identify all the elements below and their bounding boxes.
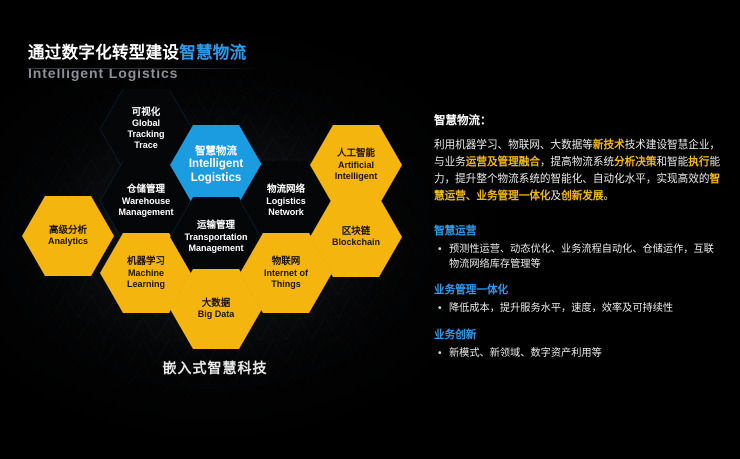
description-panel: 智慧物流： 利用机器学习、物联网、大数据等新技术技术建设智慧企业，与业务运营及管… (434, 112, 724, 371)
hex-label-cn: 仓储管理 (127, 184, 165, 196)
hex-label-en: Tracking (127, 129, 164, 140)
hex-node-analytics[interactable]: 高级分析Analytics (22, 196, 114, 276)
hex-label-en: Analytics (48, 236, 88, 247)
hex-label-en: Warehouse (122, 196, 170, 207)
hex-label-en: Intelligent (335, 171, 378, 182)
section-list: 降低成本，提升服务水平，速度，效率及可持续性 (434, 301, 724, 316)
hex-label-cn: 区块链 (342, 226, 371, 238)
paragraph-highlight: 新技术 (593, 139, 625, 151)
hex-label-en: Network (268, 207, 304, 218)
paragraph-text: 和智能 (656, 156, 688, 168)
section-list: 预测性运营、动态优化、业务流程自动化、仓储运作，互联物流网络库存管理等 (434, 242, 724, 273)
slide-canvas: 通过数字化转型建设智慧物流 Intelligent Logistics 高级分析… (0, 0, 740, 459)
hex-label-cn: 可视化 (132, 107, 161, 119)
paragraph-text: 。 (604, 190, 615, 202)
panel-heading: 智慧物流： (434, 112, 724, 128)
hex-node-body: 高级分析Analytics (22, 196, 114, 276)
hex-label-en: Big Data (198, 309, 235, 320)
hex-label-cn: 物流网络 (267, 184, 305, 196)
hex-label-en: Learning (127, 279, 165, 290)
section-list: 新模式、新领域、数字资产利用等 (434, 346, 724, 361)
paragraph-highlight: 运营及管理融合 (466, 156, 540, 168)
panel-section-integrated-business-management: 业务管理一体化降低成本，提升服务水平，速度，效率及可持续性 (434, 282, 724, 316)
list-item: 预测性运营、动态优化、业务流程自动化、仓储运作，互联物流网络库存管理等 (449, 242, 724, 273)
hex-label-en: Artificial (338, 160, 374, 171)
hex-label-en: Global (132, 118, 160, 129)
hex-label-en: Management (188, 243, 243, 254)
hex-label-cn: 智慧物流 (195, 145, 237, 158)
panel-section-business-innovation: 业务创新新模式、新领域、数字资产利用等 (434, 327, 724, 361)
panel-sections: 智慧运营预测性运营、动态优化、业务流程自动化、仓储运作，互联物流网络库存管理等业… (434, 223, 724, 361)
paragraph-highlight: 执行 (688, 156, 709, 168)
hex-label-cn: 高级分析 (49, 225, 87, 237)
hex-label-cn: 大数据 (202, 298, 231, 310)
panel-paragraph: 利用机器学习、物联网、大数据等新技术技术建设智慧企业，与业务运营及管理融合，提高… (434, 137, 724, 206)
paragraph-highlight: 创新发展 (561, 190, 603, 202)
paragraph-text: 利用机器学习、物联网、大数据等 (434, 139, 593, 151)
hex-label-cn: 物联网 (272, 256, 301, 268)
hexagon-diagram: 高级分析Analytics可视化GlobalTrackingTrace仓储管理W… (0, 0, 430, 400)
hex-label-en: Internet of (264, 268, 308, 279)
list-item: 降低成本，提升服务水平，速度，效率及可持续性 (449, 301, 724, 316)
section-heading: 业务管理一体化 (434, 282, 724, 297)
hex-label-en: Trace (134, 140, 158, 151)
hex-label-en: Blockchain (332, 237, 380, 248)
hex-label-en: Intelligent (189, 157, 243, 171)
hex-label-cn: 机器学习 (127, 256, 165, 268)
paragraph-highlight: 分析决策 (614, 156, 656, 168)
hex-label-en: Logistics (266, 196, 306, 207)
list-item: 新模式、新领域、数字资产利用等 (449, 346, 724, 361)
hex-label-en: Transportation (184, 232, 247, 243)
hex-label-en: Logistics (191, 171, 241, 185)
hex-label-en: Machine (128, 268, 164, 279)
hex-label-en: Management (118, 207, 173, 218)
hex-label-en: Things (271, 279, 301, 290)
panel-section-smart-operations: 智慧运营预测性运营、动态优化、业务流程自动化、仓储运作，互联物流网络库存管理等 (434, 223, 724, 273)
hex-label-cn: 人工智能 (337, 148, 375, 160)
section-heading: 智慧运营 (434, 223, 724, 238)
hex-label-cn: 运输管理 (197, 220, 235, 232)
paragraph-text: 及 (551, 190, 562, 202)
diagram-caption: 嵌入式智慧科技 (0, 358, 430, 378)
paragraph-text: ，提高物流系统 (540, 156, 614, 168)
section-heading: 业务创新 (434, 327, 724, 342)
